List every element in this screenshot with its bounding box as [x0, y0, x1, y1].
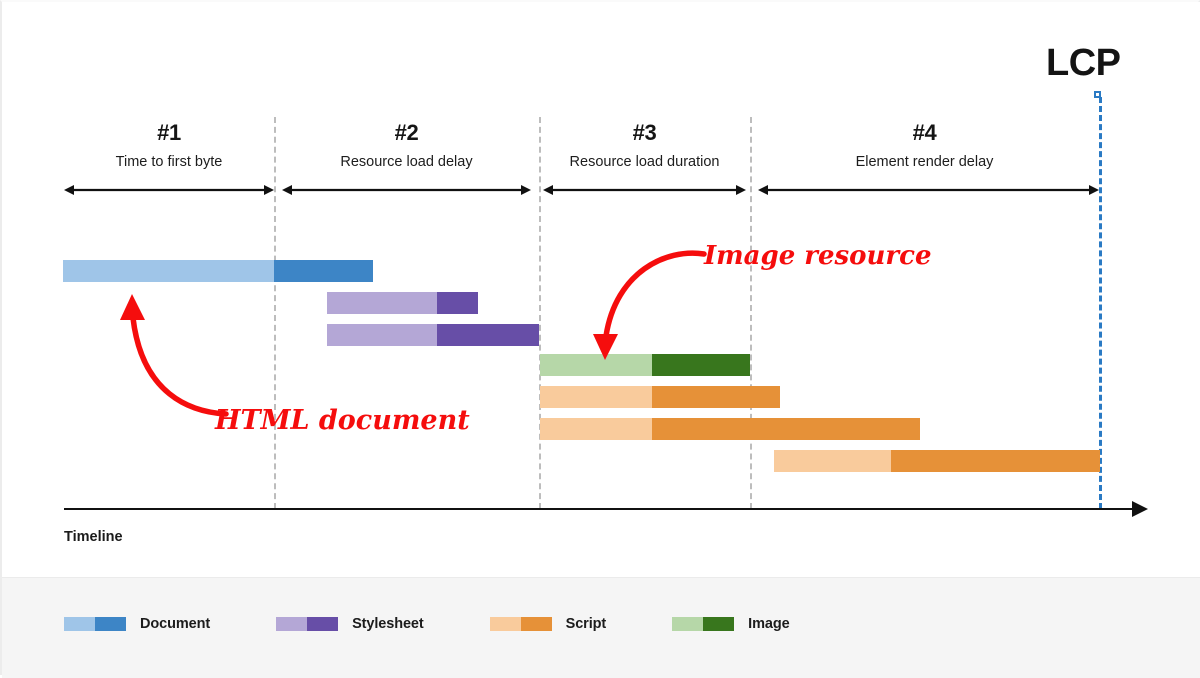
phase-name: Element render delay [750, 153, 1099, 171]
bar-segment-light [540, 386, 652, 408]
legend-label: Script [566, 616, 607, 632]
swatch-half-dark [95, 617, 126, 631]
diagram-canvas: LCP #1 Time to first byte #2 Resource lo… [0, 0, 1200, 675]
swatch-half-dark [703, 617, 734, 631]
legend-swatch-icon [64, 617, 126, 631]
swatch-half-light [276, 617, 307, 631]
lcp-dashed-line [1099, 97, 1102, 509]
legend-label: Image [748, 616, 789, 632]
phase-number: #3 [539, 120, 750, 146]
script-bar-3 [774, 450, 1100, 472]
lcp-label: LCP [1046, 42, 1121, 85]
bar-segment-light [63, 260, 274, 282]
html-document-annotation: HTML document [215, 405, 470, 436]
phase-block-3: #3 Resource load duration [539, 120, 750, 171]
phase-number: #2 [274, 120, 539, 146]
phase-block-4: #4 Element render delay [750, 120, 1099, 171]
phase-divider-1 [274, 117, 276, 509]
legend-row: Document Stylesheet Script [64, 616, 856, 632]
phase-number: #4 [750, 120, 1099, 146]
stylesheet-bar-2 [327, 324, 539, 346]
bar-segment-dark [891, 450, 1100, 472]
swatch-half-dark [307, 617, 338, 631]
document-bar [63, 260, 373, 282]
swatch-half-light [64, 617, 95, 631]
phase-arrow-3 [543, 184, 746, 196]
phase-arrow-1 [64, 184, 274, 196]
timeline-axis [64, 508, 1142, 510]
legend-label: Document [140, 616, 210, 632]
timeline-caption: Timeline [64, 529, 123, 545]
swatch-half-dark [521, 617, 552, 631]
bar-segment-dark [652, 386, 780, 408]
image-resource-annotation: Image resource [704, 241, 932, 271]
swatch-half-light [672, 617, 703, 631]
phase-block-2: #2 Resource load delay [274, 120, 539, 171]
phase-name: Resource load duration [539, 153, 750, 171]
html-document-arrow [120, 294, 230, 419]
phase-name: Time to first byte [64, 153, 274, 171]
timeline-panel: LCP #1 Time to first byte #2 Resource lo… [2, 2, 1200, 577]
legend-item-image: Image [672, 616, 789, 632]
bar-segment-dark [437, 292, 478, 314]
script-bar-2 [540, 418, 920, 440]
image-resource-arrow [594, 246, 706, 361]
script-bar-1 [540, 386, 780, 408]
legend-swatch-icon [276, 617, 338, 631]
phase-arrow-2 [282, 184, 531, 196]
bar-segment-dark [652, 418, 920, 440]
legend-item-script: Script [490, 616, 607, 632]
phase-divider-3 [750, 117, 752, 509]
legend-label: Stylesheet [352, 616, 424, 632]
phase-name: Resource load delay [274, 153, 539, 171]
bar-segment-light [774, 450, 891, 472]
phase-block-1: #1 Time to first byte [64, 120, 274, 171]
legend-swatch-icon [672, 617, 734, 631]
bar-segment-dark [437, 324, 539, 346]
legend-item-document: Document [64, 616, 210, 632]
legend-strip: Document Stylesheet Script [2, 577, 1200, 678]
legend-swatch-icon [490, 617, 552, 631]
stylesheet-bar-1 [327, 292, 478, 314]
phase-divider-2 [539, 117, 541, 509]
timeline-arrow-icon [1128, 501, 1148, 522]
bar-segment-light [540, 418, 652, 440]
legend-item-stylesheet: Stylesheet [276, 616, 424, 632]
bar-segment-dark [274, 260, 373, 282]
bar-segment-light [327, 292, 437, 314]
bar-segment-light [327, 324, 437, 346]
swatch-half-light [490, 617, 521, 631]
phase-number: #1 [64, 120, 274, 146]
phase-arrow-4 [758, 184, 1099, 196]
